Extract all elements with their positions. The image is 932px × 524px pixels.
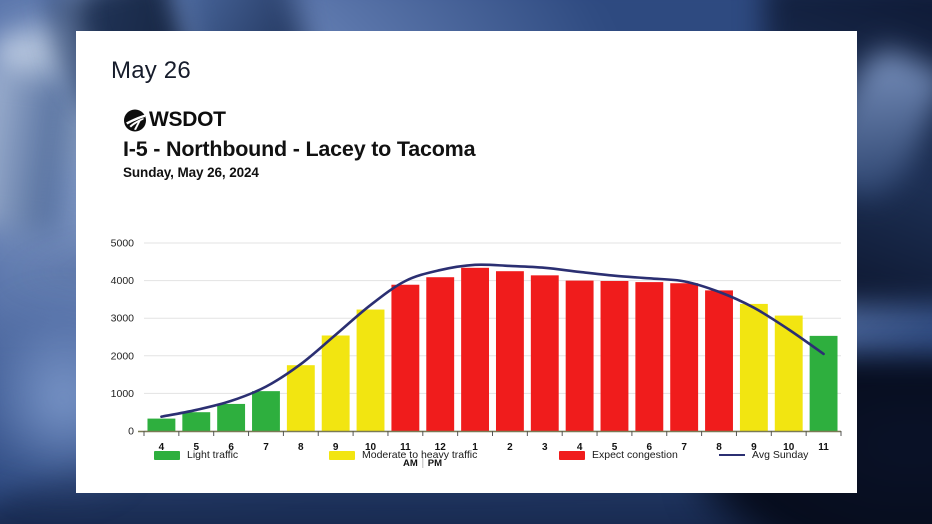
route-title: I-5 - Northbound - Lacey to Tacoma <box>123 137 475 162</box>
legend-label: Avg Sunday <box>752 449 808 461</box>
chart-bar <box>391 285 419 431</box>
x-axis-tick-label: 11 <box>818 442 829 453</box>
y-axis-tick-labels: 010002000300040005000 <box>111 238 135 438</box>
chart-bar <box>496 271 524 431</box>
chart-bar <box>566 281 594 431</box>
chart-bar <box>705 290 733 431</box>
yellow-swatch-icon <box>329 451 355 460</box>
y-axis-tick-label: 1000 <box>111 388 135 400</box>
navy-line-icon <box>719 454 745 456</box>
page-title: May 26 <box>111 57 191 85</box>
y-axis-tick-label: 5000 <box>111 238 135 250</box>
chart-gridlines <box>144 243 841 431</box>
red-swatch-icon <box>559 451 585 460</box>
route-date: Sunday, May 26, 2024 <box>123 165 475 180</box>
legend-item: Light traffic <box>154 449 238 461</box>
agency-name: WSDOT <box>149 108 226 132</box>
agency-branding: WSDOT <box>123 108 475 132</box>
chart-legend: Light trafficModerate to heavy trafficEx… <box>154 446 794 464</box>
chart-bar <box>601 281 629 431</box>
chart-bar <box>531 275 559 431</box>
y-axis-tick-label: 0 <box>128 426 134 438</box>
chart-bar <box>252 391 280 431</box>
chart-bar <box>775 316 803 431</box>
y-axis-tick-label: 2000 <box>111 350 135 362</box>
y-axis-tick-label: 3000 <box>111 313 135 325</box>
chart-bar <box>357 310 385 431</box>
chart-bar <box>147 419 175 431</box>
chart-axis <box>138 431 841 436</box>
chart-bar <box>670 283 698 431</box>
chart-bar <box>810 336 838 431</box>
legend-label: Light traffic <box>187 449 238 461</box>
wsdot-logo-icon <box>123 109 147 132</box>
legend-item: Expect congestion <box>559 449 678 461</box>
traffic-report-card: May 26 WSDOT I-5 - Northbound - Lacey to… <box>76 31 857 493</box>
legend-item: Avg Sunday <box>719 449 808 461</box>
chart-bar <box>461 268 489 431</box>
green-swatch-icon <box>154 451 180 460</box>
chart-bar <box>635 282 663 431</box>
chart-bars <box>147 268 837 431</box>
chart-bar <box>426 277 454 431</box>
legend-label: Moderate to heavy traffic <box>362 449 477 461</box>
chart-bar <box>182 412 210 431</box>
legend-item: Moderate to heavy traffic <box>329 449 477 461</box>
chart-bar <box>217 404 245 431</box>
report-header: WSDOT I-5 - Northbound - Lacey to Tacoma… <box>123 108 475 180</box>
y-axis-tick-label: 4000 <box>111 275 135 287</box>
chart-bar <box>740 304 768 431</box>
chart-bar <box>287 365 315 431</box>
legend-label: Expect congestion <box>592 449 678 461</box>
chart-bar <box>322 335 350 431</box>
